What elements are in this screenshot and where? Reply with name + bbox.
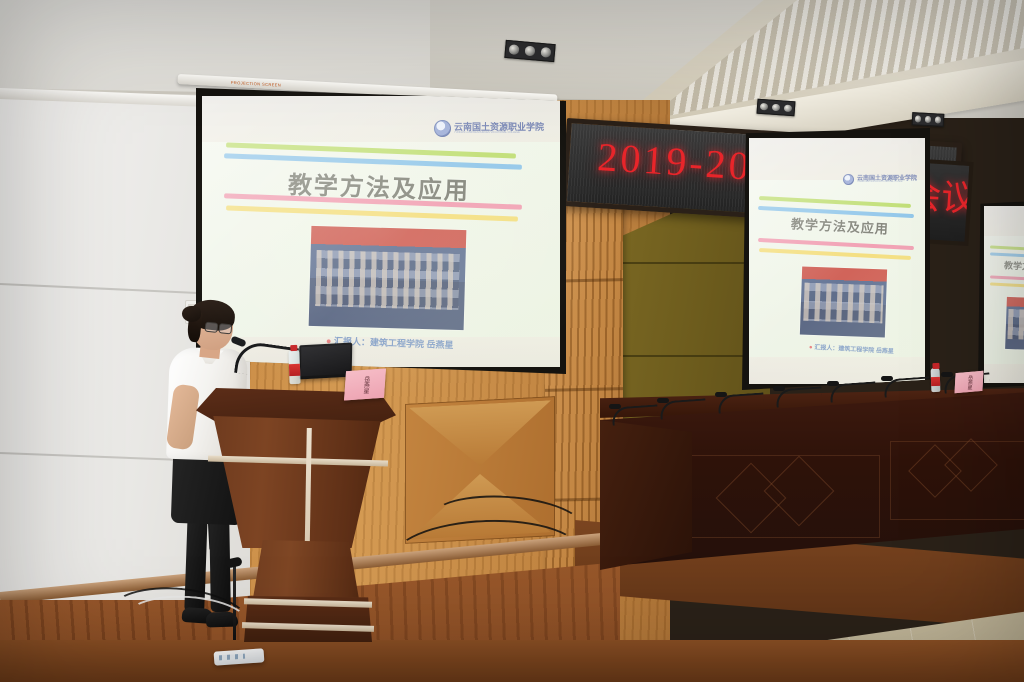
conference-hall-photo: 2019-2020 会议 PROJECTION SCREEN 云南国土资源职业学… bbox=[0, 0, 1024, 682]
table-name-card-text: 岳燕星 bbox=[966, 374, 973, 390]
slide-footer-bullet-icon: ● bbox=[809, 345, 813, 351]
screen-right: 教学方法及应用 bbox=[978, 198, 1024, 388]
triple-spot-light-right bbox=[912, 112, 945, 127]
table-microphone-head-3 bbox=[773, 386, 785, 391]
slide-logo: 云南国土资源职业学院 YUNNAN LAND RESOURCES VOCATIO… bbox=[843, 174, 917, 185]
podium-name-card-text: 岳燕星 bbox=[361, 375, 369, 394]
slide-center: 云南国土资源职业学院 YUNNAN LAND RESOURCES VOCATIO… bbox=[749, 138, 925, 384]
bottle-label bbox=[289, 364, 300, 376]
slide-right: 教学方法及应用 bbox=[984, 206, 1024, 383]
slide-title: 教学方法及应用 bbox=[1004, 258, 1024, 274]
slide-photo-people bbox=[315, 250, 459, 310]
table-microphone-head-4 bbox=[827, 381, 839, 386]
slide-yellow-bar bbox=[990, 282, 1024, 290]
slide-photo-people bbox=[1008, 309, 1024, 340]
table-name-card: 岳燕星 bbox=[955, 371, 984, 394]
slide-yellow-bar bbox=[759, 248, 911, 260]
presenter-glasses bbox=[205, 322, 233, 333]
slide-header-band bbox=[984, 206, 1024, 236]
table-microphone-head-7 bbox=[941, 372, 953, 377]
roller-brand-label: PROJECTION SCREEN bbox=[231, 80, 282, 88]
table-microphone-head-6 bbox=[609, 404, 621, 409]
slide-title: 教学方法及应用 bbox=[791, 213, 890, 237]
slide-logo: 云南国土资源职业学院 YUNNAN LAND RESOURCES VOCATIO… bbox=[434, 120, 544, 137]
bottle-cap bbox=[932, 363, 939, 369]
table-microphone-head-5 bbox=[881, 376, 893, 381]
slide-footer-value: 建筑工程学院 岳燕星 bbox=[370, 337, 454, 350]
university-seal-icon bbox=[434, 120, 451, 137]
slide-footer-value: 建筑工程学院 岳燕星 bbox=[838, 346, 894, 355]
slide-footer-text: ● 汇报人：建筑工程学院 岳燕星 bbox=[809, 342, 894, 355]
university-seal-icon bbox=[843, 174, 854, 185]
bottle-label bbox=[931, 377, 940, 386]
slide-group-photo bbox=[309, 226, 467, 330]
screen-center: 云南国土资源职业学院 YUNNAN LAND RESOURCES VOCATIO… bbox=[742, 128, 930, 390]
slide-logo-subtitle: YUNNAN LAND RESOURCES VOCATIONAL COLLEGE bbox=[857, 182, 917, 184]
slide-photo-people bbox=[804, 283, 884, 324]
slide-group-photo bbox=[800, 267, 887, 338]
table-microphone-head-2 bbox=[715, 392, 727, 397]
slide-logo-subtitle: YUNNAN LAND RESOURCES VOCATIONAL COLLEGE bbox=[454, 132, 544, 135]
podium-name-card: 岳燕星 bbox=[344, 368, 386, 400]
table-water-bottle[interactable] bbox=[931, 368, 941, 392]
slide-footer-band bbox=[984, 364, 1024, 383]
slide-group-photo bbox=[1005, 297, 1024, 351]
podium-laptop[interactable] bbox=[299, 343, 353, 380]
presenter-hair-bun bbox=[182, 306, 201, 322]
podium-water-bottle[interactable] bbox=[288, 350, 300, 384]
slide-footer-label: 汇报人： bbox=[814, 345, 838, 352]
screen-left: 云南国土资源职业学院 YUNNAN LAND RESOURCES VOCATIO… bbox=[196, 88, 566, 374]
conference-table-end-panel bbox=[600, 420, 692, 570]
table-microphone-head-1 bbox=[657, 398, 669, 403]
slide-left: 云南国土资源职业学院 YUNNAN LAND RESOURCES VOCATIO… bbox=[202, 96, 560, 367]
bottle-cap bbox=[290, 345, 297, 351]
triple-spot-light-center bbox=[757, 99, 796, 117]
